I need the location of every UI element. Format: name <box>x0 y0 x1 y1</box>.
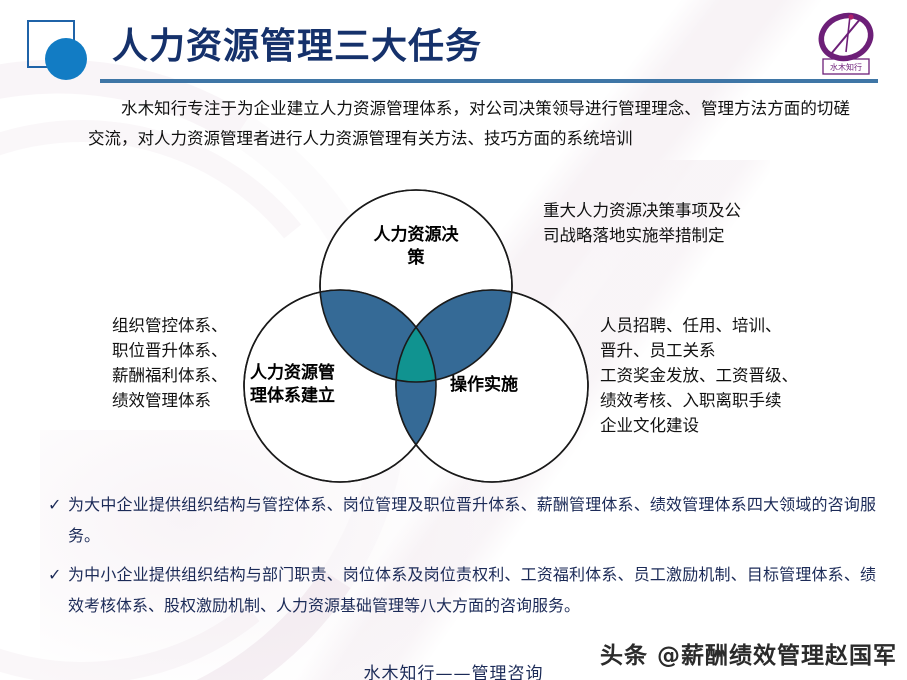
brand-logo-text: 水木知行 <box>830 62 862 72</box>
list-item: ✓ 为大中企业提供组织结构与管控体系、岗位管理及职位晋升体系、薪酬管理体系、绩效… <box>48 489 876 551</box>
check-icon: ✓ <box>48 559 61 590</box>
square-circle-icon <box>27 20 83 72</box>
slide-canvas: 人力资源管理三大任务 水木知行 水木知行专注于为企业建立人力资源管理体系，对公司… <box>0 0 907 680</box>
check-icon: ✓ <box>48 489 61 520</box>
title-underline-rule <box>100 79 878 83</box>
brand-logo-icon: 水木知行 <box>803 10 889 80</box>
intro-paragraph: 水木知行专注于为企业建立人力资源管理体系，对公司决策领导进行管理理念、管理方法方… <box>88 94 850 154</box>
page-title: 人力资源管理三大任务 <box>112 17 482 69</box>
slide-header: 人力资源管理三大任务 水木知行 <box>0 0 907 88</box>
list-item: ✓ 为中小企业提供组织结构与部门职责、岗位体系及岗位责权利、工资福利体系、员工激… <box>48 559 876 621</box>
list-item-text: 为中小企业提供组织结构与部门职责、岗位体系及岗位责权利、工资福利体系、员工激励机… <box>68 565 876 615</box>
note-decision-items: 重大人力资源决策事项及公 司战略落地实施举措制定 <box>543 198 863 248</box>
list-item-text: 为大中企业提供组织结构与管控体系、岗位管理及职位晋升体系、薪酬管理体系、绩效管理… <box>68 495 876 545</box>
note-system-items: 组织管控体系、 职位晋升体系、 薪酬福利体系、 绩效管理体系 <box>112 313 276 413</box>
bullet-list: ✓ 为大中企业提供组织结构与管控体系、岗位管理及职位晋升体系、薪酬管理体系、绩效… <box>48 489 876 629</box>
note-execution-items: 人员招聘、任用、培训、 晋升、员工关系 工资奖金发放、工资晋级、 绩效考核、入职… <box>600 313 880 438</box>
filled-circle-shape <box>45 38 87 80</box>
watermark-text: 头条 @薪酬绩效管理赵国军 <box>600 636 897 670</box>
